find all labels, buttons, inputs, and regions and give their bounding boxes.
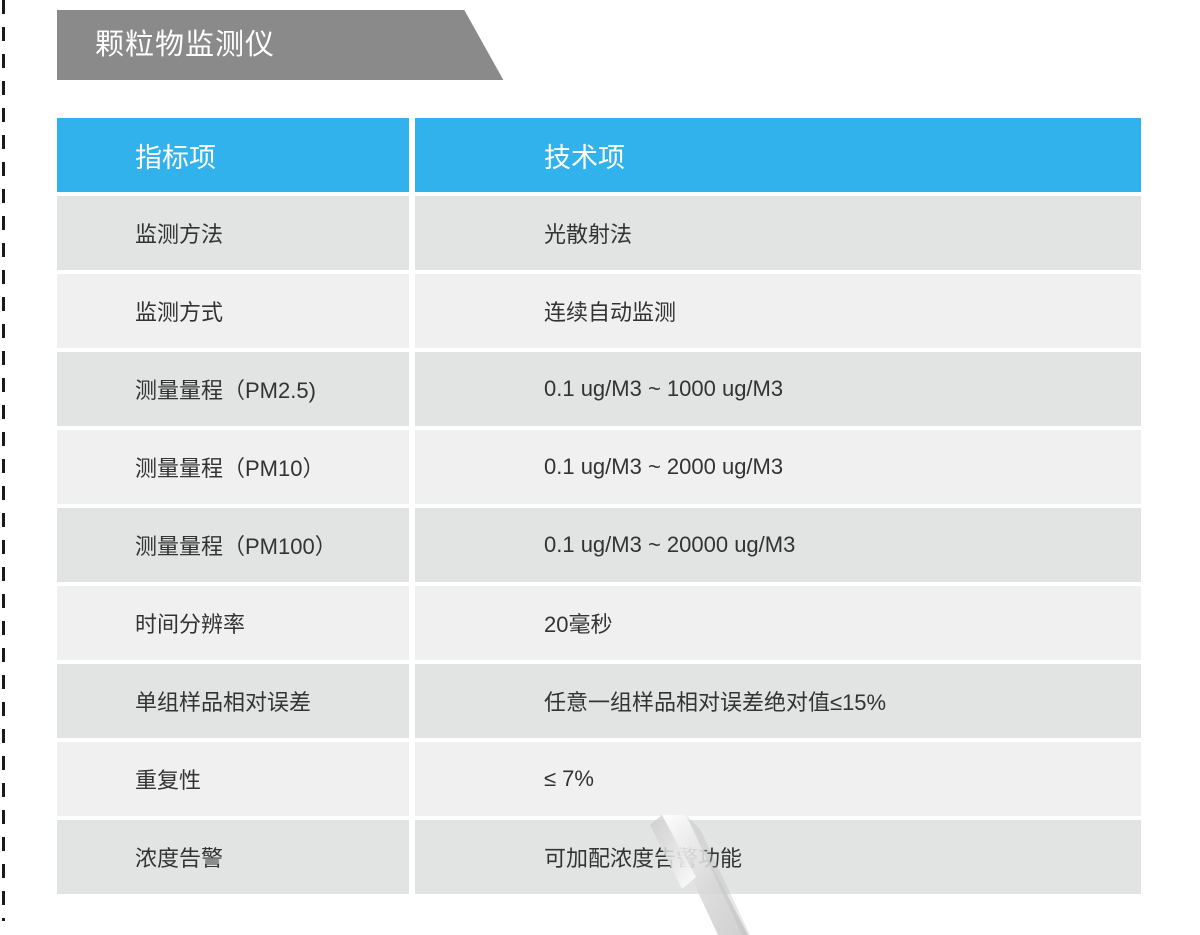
title-banner: 颗粒物监测仪 [57,10,507,80]
row-label-cell: 时间分辨率 [57,586,409,664]
column-header-indicator: 指标项 [57,118,409,196]
table-row: 测量量程（PM2.5) 0.1 ug/M3 ~ 1000 ug/M3 [57,352,1141,430]
row-value-cell: 连续自动监测 [415,274,1141,352]
table-header-row: 指标项 技术项 [57,118,1141,196]
row-label-cell: 监测方法 [57,196,409,274]
row-value-text: 连续自动监测 [415,295,1141,327]
row-label-cell: 监测方式 [57,274,409,352]
row-label-cell: 浓度告警 [57,820,409,898]
table-head: 指标项 技术项 [57,118,1141,196]
row-label-cell: 测量量程（PM100） [57,508,409,586]
spec-sheet-page: 颗粒物监测仪 指标项 技术项 监测方法 光散射法 [0,0,1200,921]
row-label-text: 时间分辨率 [57,607,409,639]
row-label-cell: 测量量程（PM2.5) [57,352,409,430]
page-title: 颗粒物监测仪 [95,10,275,80]
row-label-text: 监测方式 [57,295,409,327]
column-header-indicator-label: 指标项 [57,136,409,175]
row-label-text: 监测方法 [57,217,409,249]
table-body: 监测方法 光散射法 监测方式 连续自动监测 测量量程（PM2.5) [57,196,1141,898]
table-row: 监测方法 光散射法 [57,196,1141,274]
column-header-technical-label: 技术项 [415,136,1141,175]
specification-table: 指标项 技术项 监测方法 光散射法 监测方式 [57,118,1141,898]
row-value-text: ≤ 7% [415,766,1141,792]
row-value-cell: 0.1 ug/M3 ~ 20000 ug/M3 [415,508,1141,586]
row-value-cell: 0.1 ug/M3 ~ 1000 ug/M3 [415,352,1141,430]
row-label-cell: 重复性 [57,742,409,820]
row-label-text: 重复性 [57,763,409,795]
row-value-cell: 可加配浓度告警功能 [415,820,1141,898]
row-value-text: 20毫秒 [415,607,1141,639]
row-value-cell: ≤ 7% [415,742,1141,820]
table-row: 单组样品相对误差 任意一组样品相对误差绝对值≤15% [57,664,1141,742]
row-value-text: 光散射法 [415,217,1141,249]
table-row: 重复性 ≤ 7% [57,742,1141,820]
row-value-cell: 光散射法 [415,196,1141,274]
row-label-cell: 测量量程（PM10） [57,430,409,508]
row-label-text: 测量量程（PM10） [57,451,409,483]
row-label-text: 浓度告警 [57,841,409,873]
row-label-text: 测量量程（PM2.5) [57,373,409,405]
row-value-text: 0.1 ug/M3 ~ 1000 ug/M3 [415,376,1141,402]
row-label-text: 单组样品相对误差 [57,685,409,717]
row-label-text: 测量量程（PM100） [57,529,409,561]
row-value-text: 任意一组样品相对误差绝对值≤15% [415,685,1141,717]
row-value-cell: 0.1 ug/M3 ~ 2000 ug/M3 [415,430,1141,508]
table-row: 监测方式 连续自动监测 [57,274,1141,352]
row-label-cell: 单组样品相对误差 [57,664,409,742]
table-row: 时间分辨率 20毫秒 [57,586,1141,664]
row-value-cell: 20毫秒 [415,586,1141,664]
column-header-technical: 技术项 [415,118,1141,196]
row-value-text: 0.1 ug/M3 ~ 2000 ug/M3 [415,454,1141,480]
table-row: 测量量程（PM100） 0.1 ug/M3 ~ 20000 ug/M3 [57,508,1141,586]
row-value-text: 0.1 ug/M3 ~ 20000 ug/M3 [415,532,1141,558]
row-value-text: 可加配浓度告警功能 [415,841,1141,873]
row-value-cell: 任意一组样品相对误差绝对值≤15% [415,664,1141,742]
dashed-vertical-line [2,0,5,921]
table-row: 测量量程（PM10） 0.1 ug/M3 ~ 2000 ug/M3 [57,430,1141,508]
table-row: 浓度告警 可加配浓度告警功能 [57,820,1141,898]
